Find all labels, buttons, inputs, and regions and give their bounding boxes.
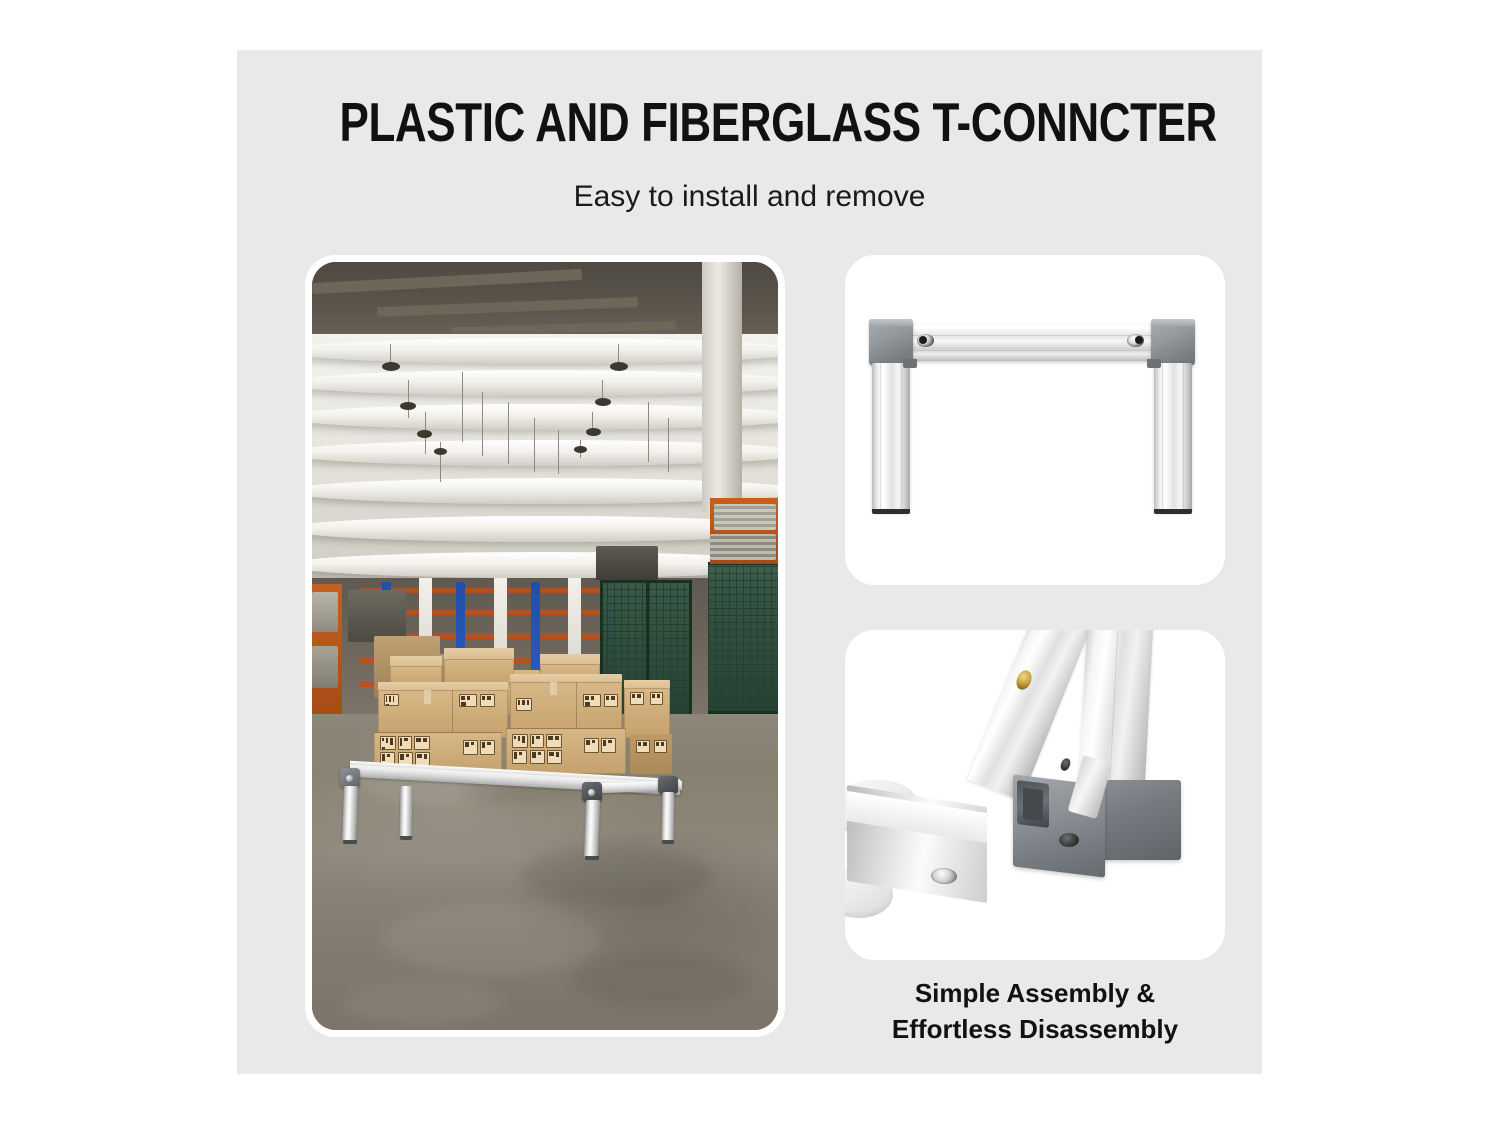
high-bay-light bbox=[574, 446, 587, 453]
dunnage-rack bbox=[340, 744, 750, 869]
wire-mesh-cage bbox=[708, 562, 778, 714]
caption-line-2: Effortless Disassembly bbox=[825, 1011, 1245, 1047]
rack-leg bbox=[342, 786, 358, 842]
leg-left bbox=[872, 363, 910, 513]
content-panel: PLASTIC AND FIBERGLASS T-CONNCTER Easy t… bbox=[237, 50, 1262, 1074]
warehouse-application-photo bbox=[312, 262, 778, 1030]
socket-access-hole bbox=[1059, 833, 1079, 847]
high-bay-light bbox=[382, 362, 400, 371]
high-bay-light bbox=[586, 428, 601, 436]
cross-beam bbox=[907, 323, 1157, 361]
page-title: PLASTIC AND FIBERGLASS T-CONNCTER bbox=[340, 93, 1160, 151]
detail-caption: Simple Assembly & Effortless Disassembly bbox=[825, 975, 1245, 1047]
product-infographic: PLASTIC AND FIBERGLASS T-CONNCTER Easy t… bbox=[0, 0, 1500, 1125]
high-bay-light bbox=[434, 448, 447, 455]
high-bay-light bbox=[595, 398, 611, 406]
high-bay-light bbox=[610, 362, 628, 371]
assembly-detail-photo bbox=[845, 630, 1225, 960]
rack-leg bbox=[662, 792, 675, 842]
caption-line-1: Simple Assembly & bbox=[825, 975, 1245, 1011]
assembly-detail-card bbox=[845, 630, 1225, 960]
page-subtitle: Easy to install and remove bbox=[237, 180, 1262, 214]
hero-photo-card bbox=[305, 255, 785, 1037]
leg-right bbox=[1154, 363, 1192, 513]
t-connector-frame-card bbox=[845, 255, 1225, 585]
t-connector-socket-right bbox=[1093, 780, 1181, 860]
rack-leg bbox=[400, 786, 413, 838]
warehouse-scene bbox=[312, 262, 778, 1030]
rack-leg bbox=[584, 800, 600, 858]
support-column bbox=[702, 262, 742, 512]
high-bay-light bbox=[400, 402, 416, 410]
high-bay-light bbox=[417, 430, 432, 438]
t-connector-frame-photo bbox=[845, 255, 1225, 585]
